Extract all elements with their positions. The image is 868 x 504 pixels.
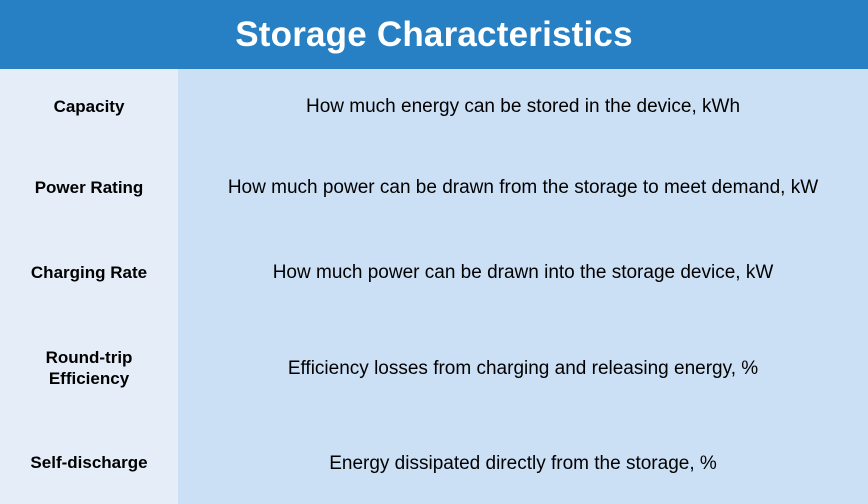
table-row-label: Capacity — [0, 69, 178, 145]
characteristics-table: Capacity Power Rating Charging Rate Roun… — [0, 69, 868, 504]
slide-storage-characteristics: Storage Characteristics Capacity Power R… — [0, 0, 868, 504]
table-row-label: Power Rating — [0, 145, 178, 231]
table-row-label: Charging Rate — [0, 231, 178, 315]
table-row-description: How much power can be drawn into the sto… — [178, 231, 868, 315]
table-row-label: Self-discharge — [0, 423, 178, 504]
table-row-label: Round-trip Efficiency — [0, 315, 178, 423]
slide-title-band: Storage Characteristics — [0, 0, 868, 69]
table-row-description: Energy dissipated directly from the stor… — [178, 423, 868, 504]
table-row-description: How much power can be drawn from the sto… — [178, 145, 868, 231]
page-title: Storage Characteristics — [235, 17, 633, 52]
description-column: How much energy can be stored in the dev… — [178, 69, 868, 504]
label-column: Capacity Power Rating Charging Rate Roun… — [0, 69, 178, 504]
table-row-description: How much energy can be stored in the dev… — [178, 69, 868, 145]
table-row-description: Efficiency losses from charging and rele… — [178, 315, 868, 423]
